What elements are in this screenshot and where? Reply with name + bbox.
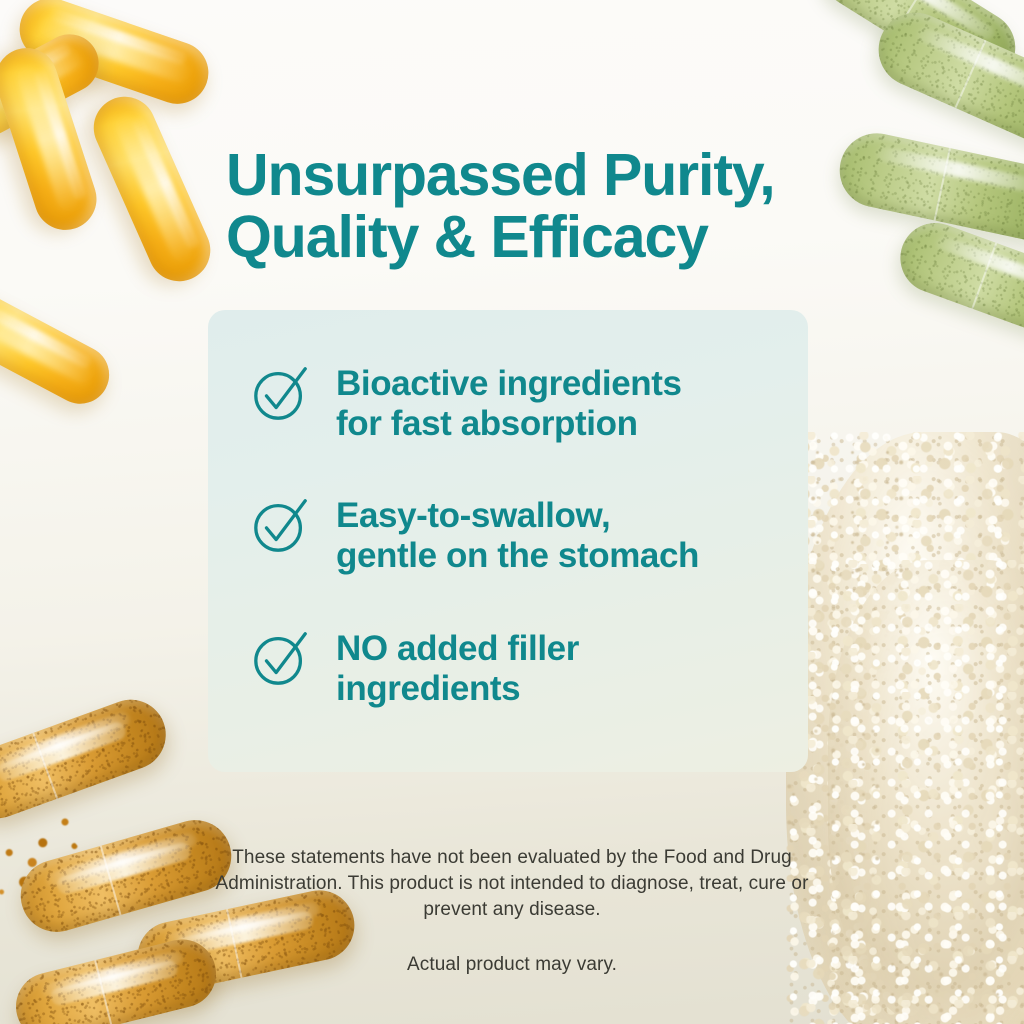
product-variation-note: Actual product may vary. xyxy=(212,952,812,978)
benefit-label: Bioactive ingredients for fast absorptio… xyxy=(336,360,682,444)
benefit-label: Easy-to-swallow, gentle on the stomach xyxy=(336,492,699,576)
benefit-item: Easy-to-swallow, gentle on the stomach xyxy=(250,492,699,576)
headline-line-1: Unsurpassed Purity, xyxy=(226,142,775,208)
fda-disclaimer-text: These statements have not been evaluated… xyxy=(215,847,808,920)
check-circle-icon xyxy=(250,362,312,424)
promo-graphic: Unsurpassed Purity, Quality & Efficacy B… xyxy=(0,0,1024,1024)
benefit-label: NO added filler ingredients xyxy=(336,625,579,709)
benefit-item: Bioactive ingredients for fast absorptio… xyxy=(250,360,682,444)
benefit-item: NO added filler ingredients xyxy=(250,625,579,709)
benefits-card: Bioactive ingredients for fast absorptio… xyxy=(208,310,808,772)
turmeric-capsule xyxy=(9,932,223,1024)
headline-line-2: Quality & Efficacy xyxy=(226,206,866,269)
check-circle-icon xyxy=(250,627,312,689)
page-title: Unsurpassed Purity, Quality & Efficacy xyxy=(226,144,866,269)
check-circle-icon xyxy=(250,494,312,556)
disclaimer: These statements have not been evaluated… xyxy=(212,845,812,978)
softgel-capsule xyxy=(0,280,119,414)
softgel-capsule xyxy=(84,87,220,291)
